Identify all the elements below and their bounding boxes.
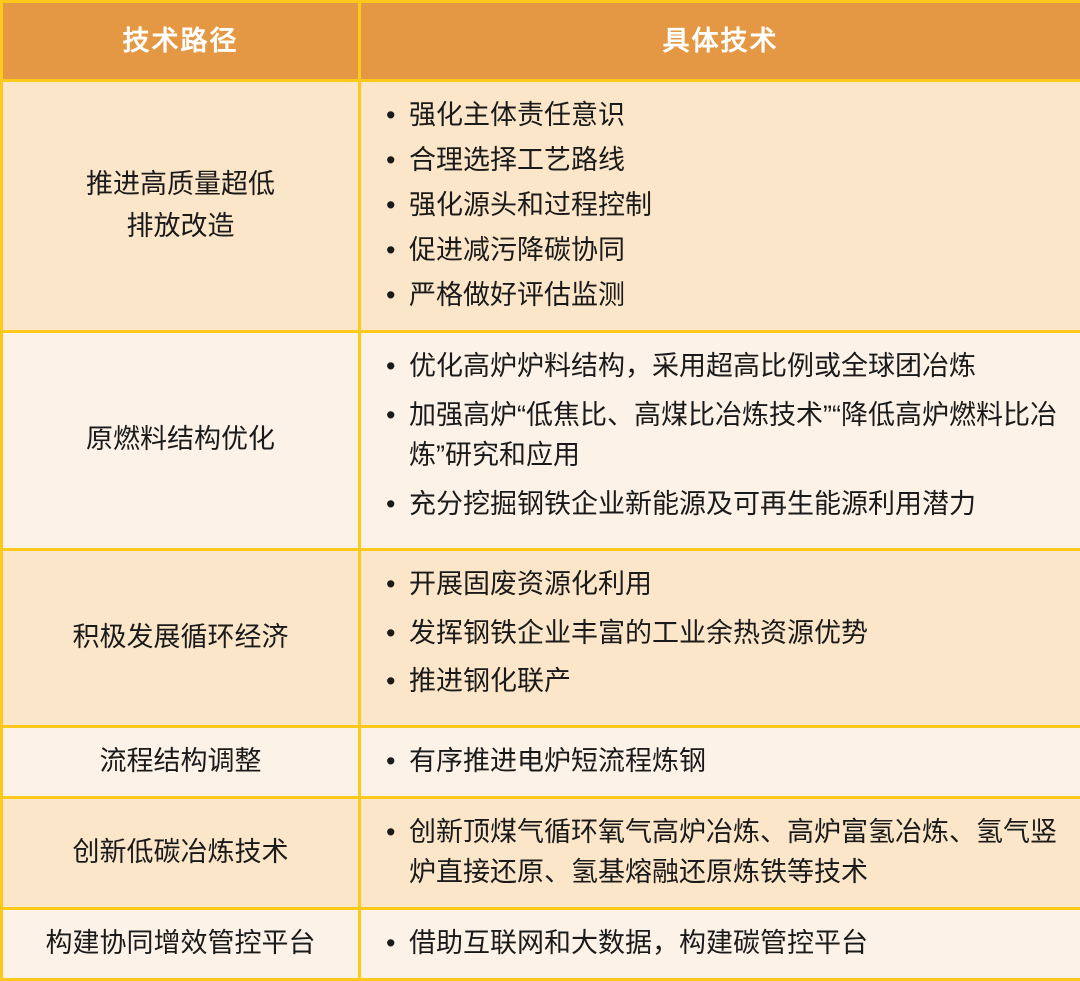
list-item-label: 优化高炉炉料结构，采用超高比例或全球团冶炼 [409, 351, 976, 381]
header-cell-path: 技术路径 [2, 2, 360, 81]
list-item-label: 发挥钢铁企业丰富的工业余热资源优势 [409, 618, 868, 648]
list-item-label: 加强高炉“低焦比、高煤比冶炼技术”“降低高炉燃料比冶炼”研究和应用 [409, 400, 1057, 470]
table-row: 原燃料结构优化•优化高炉炉料结构，采用超高比例或全球团冶炼•加强高炉“低焦比、高… [2, 331, 1080, 549]
list-item: •发挥钢铁企业丰富的工业余热资源优势 [383, 614, 1064, 654]
technology-path-line: 创新低碳冶炼技术 [17, 832, 344, 874]
bullet-icon: • [386, 662, 395, 702]
table-row: 创新低碳冶炼技术•创新顶煤气循环氧气高炉冶炼、高炉富氢冶炼、氢气竖炉直接还原、氢… [2, 798, 1080, 909]
technology-list: •强化主体责任意识•合理选择工艺路线•强化源头和过程控制•促进减污降碳协同•严格… [383, 96, 1064, 316]
cell-specific-technologies: •创新顶煤气循环氧气高炉冶炼、高炉富氢冶炼、氢气竖炉直接还原、氢基熔融还原炼铁等… [360, 798, 1080, 909]
list-item-label: 有序推进电炉短流程炼钢 [409, 746, 706, 776]
cell-specific-technologies: •开展固废资源化利用•发挥钢铁企业丰富的工业余热资源优势•推进钢化联产 [360, 549, 1080, 727]
list-item: •强化源头和过程控制 [383, 186, 1064, 226]
technology-path-line: 排放改造 [17, 206, 344, 248]
list-item-label: 强化源头和过程控制 [409, 190, 652, 220]
bullet-icon: • [386, 141, 395, 181]
cell-technology-path: 流程结构调整 [2, 727, 360, 798]
technology-path-line: 流程结构调整 [17, 741, 344, 783]
cell-specific-technologies: •强化主体责任意识•合理选择工艺路线•强化源头和过程控制•促进减污降碳协同•严格… [360, 81, 1080, 332]
table-header: 技术路径 具体技术 [2, 2, 1080, 81]
header-row: 技术路径 具体技术 [2, 2, 1080, 81]
list-item-label: 充分挖掘钢铁企业新能源及可再生能源利用潜力 [409, 489, 976, 519]
technology-path-line: 构建协同增效管控平台 [17, 923, 344, 965]
bullet-icon: • [386, 485, 395, 525]
table-row: 推进高质量超低排放改造•强化主体责任意识•合理选择工艺路线•强化源头和过程控制•… [2, 81, 1080, 332]
bullet-icon: • [386, 186, 395, 226]
table-row: 流程结构调整•有序推进电炉短流程炼钢 [2, 727, 1080, 798]
list-item: •加强高炉“低焦比、高煤比冶炼技术”“降低高炉燃料比冶炼”研究和应用 [383, 396, 1064, 476]
technology-path-line: 原燃料结构优化 [17, 419, 344, 461]
technology-list: •借助互联网和大数据，构建碳管控平台 [383, 924, 1064, 964]
list-item-label: 借助互联网和大数据，构建碳管控平台 [409, 928, 868, 958]
bullet-icon: • [386, 742, 395, 782]
list-item-label: 合理选择工艺路线 [409, 145, 625, 175]
technology-roadmap-table: 技术路径 具体技术 推进高质量超低排放改造•强化主体责任意识•合理选择工艺路线•… [0, 0, 1080, 981]
cell-technology-path: 创新低碳冶炼技术 [2, 798, 360, 909]
bullet-icon: • [386, 347, 395, 387]
technology-list: •开展固废资源化利用•发挥钢铁企业丰富的工业余热资源优势•推进钢化联产 [383, 565, 1064, 703]
header-cell-tech: 具体技术 [360, 2, 1080, 81]
bullet-icon: • [386, 231, 395, 271]
list-item-label: 促进减污降碳协同 [409, 235, 625, 265]
cell-technology-path: 积极发展循环经济 [2, 549, 360, 727]
cell-specific-technologies: •优化高炉炉料结构，采用超高比例或全球团冶炼•加强高炉“低焦比、高煤比冶炼技术”… [360, 331, 1080, 549]
list-item: •创新顶煤气循环氧气高炉冶炼、高炉富氢冶炼、氢气竖炉直接还原、氢基熔融还原炼铁等… [383, 813, 1064, 893]
list-item: •促进减污降碳协同 [383, 231, 1064, 271]
list-item-label: 强化主体责任意识 [409, 100, 625, 130]
table-row: 积极发展循环经济•开展固废资源化利用•发挥钢铁企业丰富的工业余热资源优势•推进钢… [2, 549, 1080, 727]
list-item: •合理选择工艺路线 [383, 141, 1064, 181]
list-item-label: 创新顶煤气循环氧气高炉冶炼、高炉富氢冶炼、氢气竖炉直接还原、氢基熔融还原炼铁等技… [409, 817, 1057, 887]
bullet-icon: • [386, 813, 395, 853]
list-item: •优化高炉炉料结构，采用超高比例或全球团冶炼 [383, 347, 1064, 387]
bullet-icon: • [386, 565, 395, 605]
technology-list: •优化高炉炉料结构，采用超高比例或全球团冶炼•加强高炉“低焦比、高煤比冶炼技术”… [383, 347, 1064, 525]
list-item: •借助互联网和大数据，构建碳管控平台 [383, 924, 1064, 964]
bullet-icon: • [386, 96, 395, 136]
bullet-icon: • [386, 924, 395, 964]
list-item: •有序推进电炉短流程炼钢 [383, 742, 1064, 782]
bullet-icon: • [386, 396, 395, 436]
technology-path-line: 积极发展循环经济 [17, 617, 344, 659]
list-item-label: 严格做好评估监测 [409, 280, 625, 310]
cell-technology-path: 构建协同增效管控平台 [2, 909, 360, 980]
technology-path-line: 推进高质量超低 [17, 164, 344, 206]
cell-specific-technologies: •借助互联网和大数据，构建碳管控平台 [360, 909, 1080, 980]
table-body: 推进高质量超低排放改造•强化主体责任意识•合理选择工艺路线•强化源头和过程控制•… [2, 81, 1080, 980]
technology-list: •创新顶煤气循环氧气高炉冶炼、高炉富氢冶炼、氢气竖炉直接还原、氢基熔融还原炼铁等… [383, 813, 1064, 893]
cell-technology-path: 推进高质量超低排放改造 [2, 81, 360, 332]
list-item: •充分挖掘钢铁企业新能源及可再生能源利用潜力 [383, 485, 1064, 525]
list-item: •强化主体责任意识 [383, 96, 1064, 136]
cell-specific-technologies: •有序推进电炉短流程炼钢 [360, 727, 1080, 798]
cell-technology-path: 原燃料结构优化 [2, 331, 360, 549]
technology-list: •有序推进电炉短流程炼钢 [383, 742, 1064, 782]
list-item: •推进钢化联产 [383, 662, 1064, 702]
bullet-icon: • [386, 614, 395, 654]
list-item-label: 推进钢化联产 [409, 666, 571, 696]
list-item-label: 开展固废资源化利用 [409, 569, 652, 599]
table-row: 构建协同增效管控平台•借助互联网和大数据，构建碳管控平台 [2, 909, 1080, 980]
list-item: •严格做好评估监测 [383, 276, 1064, 316]
list-item: •开展固废资源化利用 [383, 565, 1064, 605]
bullet-icon: • [386, 276, 395, 316]
